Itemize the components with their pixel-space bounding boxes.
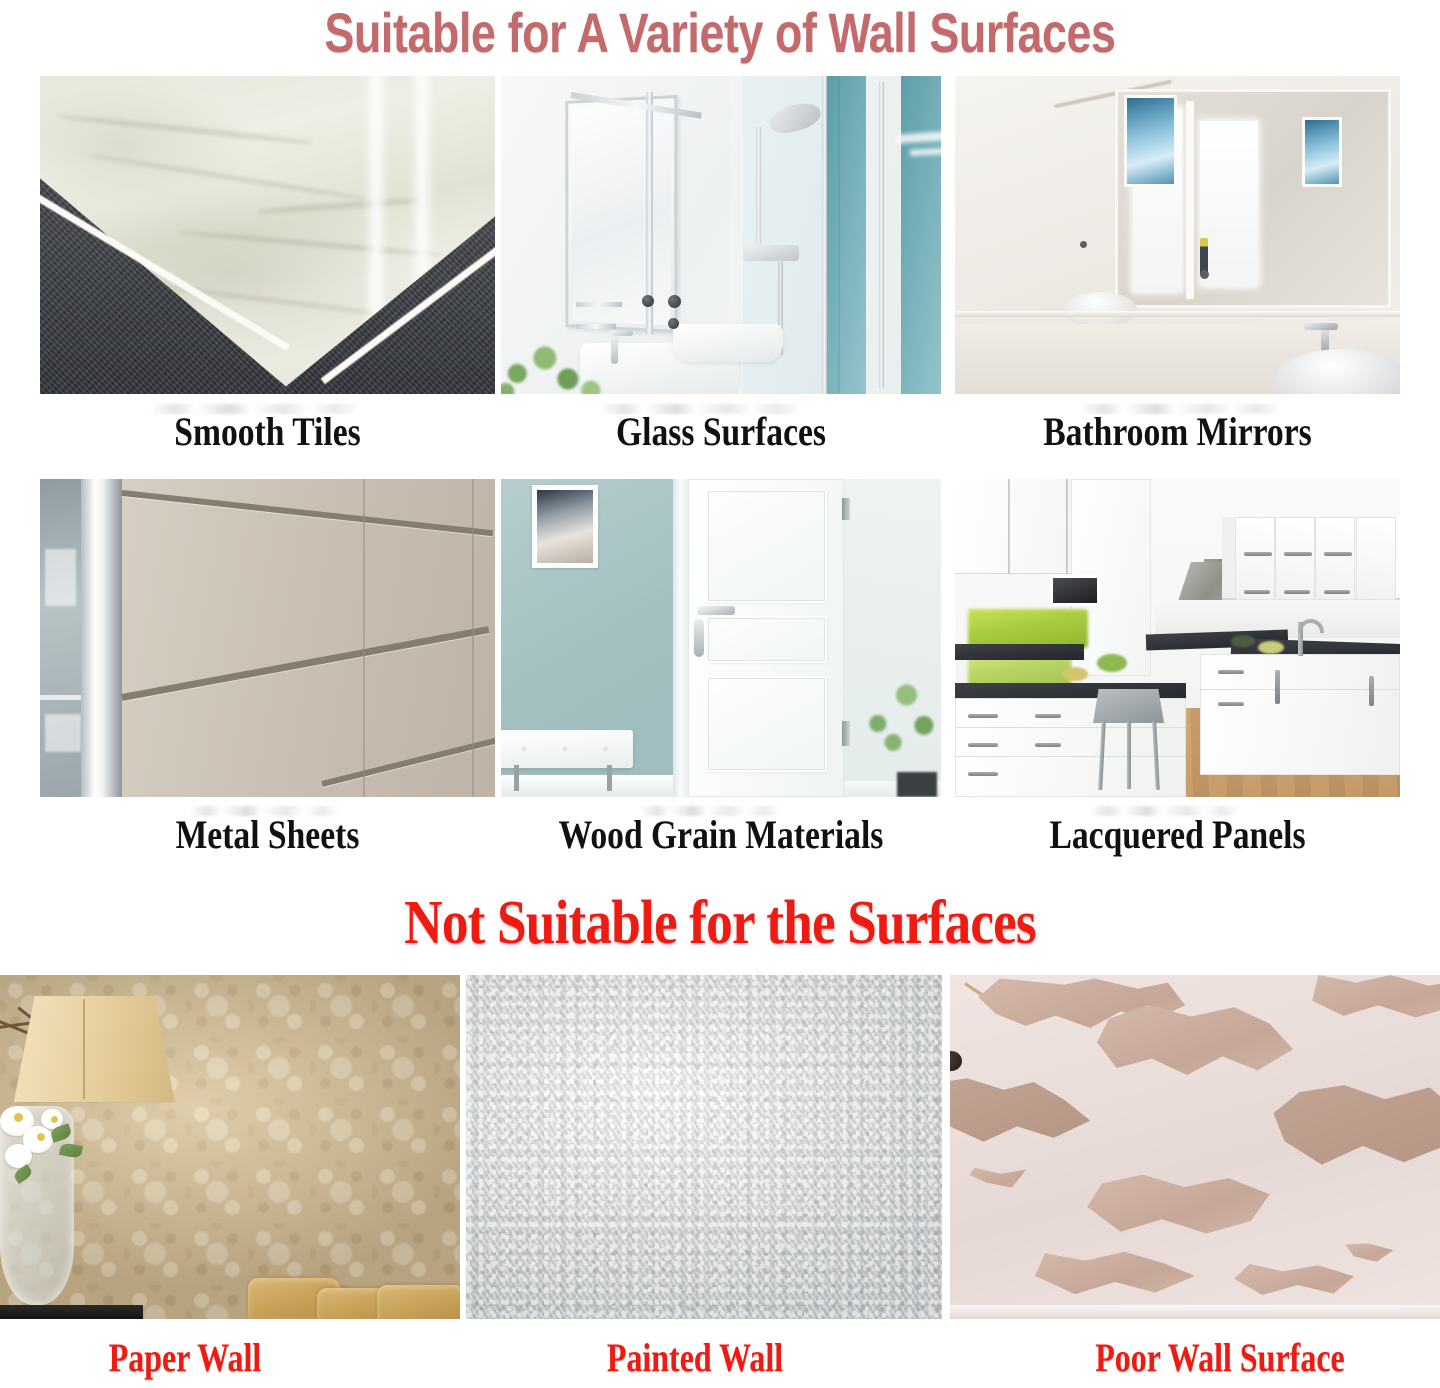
page-title-suitable: Suitable for A Variety of Wall Surfaces bbox=[144, 0, 1296, 68]
photo-glass-surfaces bbox=[501, 76, 941, 394]
surface-label-paper-wall: Paper Wall bbox=[37, 1336, 333, 1380]
photo-paper-wall bbox=[0, 975, 460, 1319]
surface-label-metal-sheets: Metal Sheets bbox=[76, 813, 458, 857]
photo-metal-sheets bbox=[40, 479, 495, 797]
photo-poor-wall-surface bbox=[950, 975, 1440, 1319]
surface-card-lacquered-panels bbox=[955, 479, 1400, 797]
surface-card-poor-wall-surface bbox=[950, 975, 1440, 1319]
surface-label-painted-wall: Painted Wall bbox=[499, 1336, 891, 1380]
surface-card-glass-surfaces bbox=[501, 76, 941, 394]
surface-card-paper-wall bbox=[0, 975, 460, 1319]
surface-card-wood-grain-materials bbox=[501, 479, 941, 797]
surface-card-smooth-tiles bbox=[40, 76, 495, 394]
photo-lacquered-panels bbox=[955, 479, 1400, 797]
surface-card-painted-wall bbox=[466, 975, 942, 1319]
photo-smooth-tiles bbox=[40, 76, 495, 394]
surface-label-smooth-tiles: Smooth Tiles bbox=[76, 410, 458, 454]
surface-label-bathroom-mirrors: Bathroom Mirrors bbox=[991, 410, 1365, 454]
infographic-page: Suitable for A Variety of Wall Surfaces … bbox=[0, 0, 1440, 1388]
surface-label-wood-grain-materials: Wood Grain Materials bbox=[528, 813, 914, 857]
surface-label-poor-wall-surface: Poor Wall Surface bbox=[1044, 1336, 1396, 1380]
surface-card-bathroom-mirrors bbox=[955, 76, 1400, 394]
page-title-not-suitable: Not Suitable for the Surfaces bbox=[101, 886, 1339, 960]
photo-painted-wall bbox=[466, 975, 942, 1319]
photo-bathroom-mirrors bbox=[955, 76, 1400, 394]
surface-label-glass-surfaces: Glass Surfaces bbox=[536, 410, 906, 454]
surface-label-lacquered-panels: Lacquered Panels bbox=[991, 813, 1365, 857]
surface-card-metal-sheets bbox=[40, 479, 495, 797]
photo-wood-grain-materials bbox=[501, 479, 941, 797]
